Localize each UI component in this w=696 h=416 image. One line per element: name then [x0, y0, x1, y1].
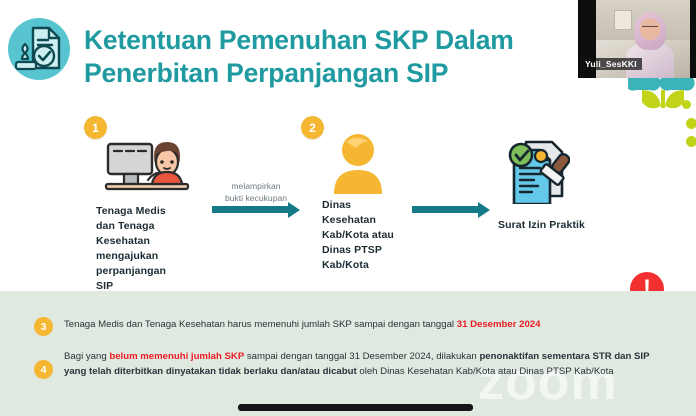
note-4-text: Bagi yang belum memenuhi jumlah SKP samp…	[64, 349, 664, 379]
webcam-picture-frame	[614, 10, 632, 30]
dot-decoration	[682, 100, 691, 109]
arrow-2	[412, 206, 480, 213]
step-3-label: Surat Izin Praktik	[498, 218, 618, 233]
webcam-letterbox-right	[690, 0, 696, 78]
person-at-computer-icon	[104, 136, 190, 207]
page-title: Ketentuan Pemenuhan SKP Dalam Penerbitan…	[84, 24, 554, 91]
note-3-part-0: Tenaga Medis dan Tenaga Kesehatan harus …	[64, 319, 457, 330]
webcam-video-tile[interactable]: Yuli_SesKKI	[578, 0, 696, 78]
note-4-part-4: oleh Dinas Kesehatan Kab/Kota atau Dinas…	[357, 366, 614, 377]
webcam-person-glasses	[642, 26, 658, 31]
note-4-part-0: Bagi yang	[64, 351, 109, 362]
presentation-slide: Ketentuan Pemenuhan SKP Dalam Penerbitan…	[0, 0, 696, 416]
person-avatar-icon	[330, 132, 386, 199]
note-4-part-2: sampai dengan tanggal 31 Desember 2024, …	[244, 351, 479, 362]
participant-name-label: Yuli_SesKKI	[580, 58, 642, 70]
arrow-1	[212, 206, 290, 213]
note-3-part-1: 31 Desember 2024	[457, 319, 541, 330]
note-3-text: Tenaga Medis dan Tenaga Kesehatan harus …	[64, 317, 540, 336]
title-line-2: Penerbitan Perpanjangan SIP	[84, 57, 554, 90]
step-2-label: DinasKesehatanKab/Kota atauDinas PTSPKab…	[322, 198, 422, 273]
step-1-label: Tenaga Medisdan TenagaKesehatanmengajuka…	[96, 204, 192, 293]
note-item-3: 3 Tenaga Medis dan Tenaga Kesehatan haru…	[34, 317, 664, 336]
leaf-decoration	[628, 74, 696, 118]
note-4-part-1: belum memenuhi jumlah SKP	[109, 351, 244, 362]
step-2-badge: 2	[301, 116, 324, 139]
note-3-badge: 3	[34, 317, 53, 336]
bottom-bar	[238, 404, 473, 411]
note-4-badge: 4	[34, 360, 53, 379]
dot-decoration	[686, 136, 696, 147]
document-stamp-icon	[8, 18, 70, 80]
title-line-1: Ketentuan Pemenuhan SKP Dalam	[84, 24, 554, 57]
dot-decoration	[686, 118, 696, 129]
certificate-stamp-icon	[504, 138, 570, 209]
note-item-4: 4 Bagi yang belum memenuhi jumlah SKP sa…	[34, 349, 664, 379]
